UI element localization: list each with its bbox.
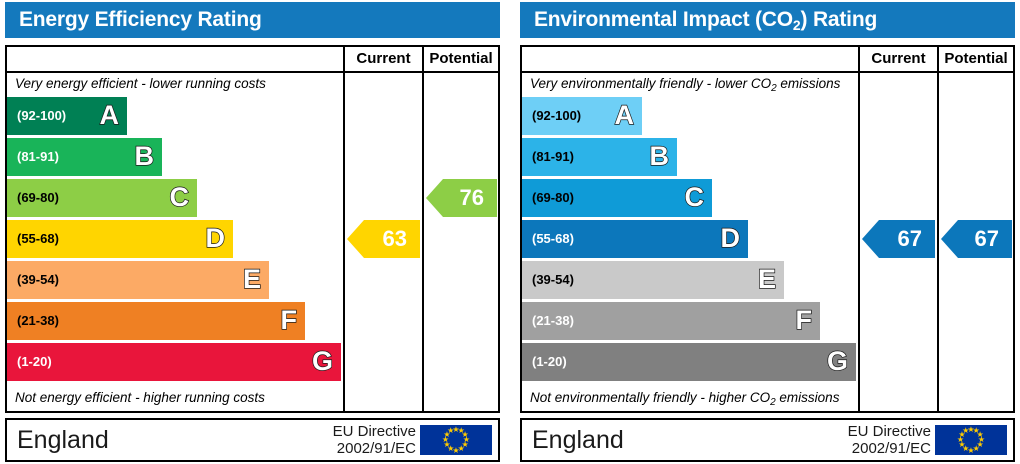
- energy-efficiency-table: Current Potential Very energy efficient …: [5, 45, 500, 413]
- band-letter-a: A: [615, 97, 635, 135]
- band-range-f: (21-38): [17, 302, 59, 340]
- energy-efficiency-title: Energy Efficiency Rating: [5, 2, 500, 38]
- eu-flag-icon: ★★★★★★★★★★★★: [935, 425, 1007, 455]
- environmental-top-note-subscript: 2: [771, 83, 777, 94]
- band-f: (21-38)F: [7, 302, 305, 340]
- band-range-a: (92-100): [532, 97, 581, 135]
- band-letter-b: B: [135, 138, 155, 176]
- environmental-bottom-note-text: Not environmentally friendly - higher CO: [530, 390, 770, 405]
- band-range-c: (69-80): [532, 179, 574, 217]
- environmental-country-label: England: [532, 425, 624, 455]
- environmental-current-rating-arrow: 67: [862, 220, 935, 258]
- band-letter-a: A: [100, 97, 120, 135]
- environmental-bottom-note-suffix: emissions: [776, 390, 840, 405]
- band-letter-d: D: [206, 220, 226, 258]
- environmental-top-note: Very environmentally friendly - lower CO…: [530, 73, 860, 95]
- energy-footer: England EU Directive 2002/91/EC ★★★★★★★★…: [5, 418, 500, 462]
- band-e: (39-54)E: [7, 261, 269, 299]
- environmental-impact-title-text: Environmental Impact (CO: [534, 8, 793, 31]
- eu-flag-star: ★: [447, 427, 455, 435]
- band-range-b: (81-91): [17, 138, 59, 176]
- environmental-eu-directive-label: EU Directive 2002/91/EC: [848, 423, 931, 457]
- band-range-d: (55-68): [532, 220, 574, 258]
- band-letter-g: G: [312, 343, 333, 381]
- band-range-e: (39-54): [532, 261, 574, 299]
- environmental-top-note-suffix: emissions: [777, 76, 841, 91]
- band-range-a: (92-100): [17, 97, 66, 135]
- band-range-b: (81-91): [532, 138, 574, 176]
- epc-certificate-page: Energy Efficiency Rating Current Potenti…: [0, 0, 1020, 464]
- band-letter-e: E: [758, 261, 776, 299]
- band-c: (69-80)C: [7, 179, 197, 217]
- band-range-g: (1-20): [532, 343, 567, 381]
- environmental-potential-column-header: Potential: [939, 47, 1013, 71]
- band-letter-d: D: [721, 220, 741, 258]
- band-letter-c: C: [170, 179, 190, 217]
- band-letter-f: F: [796, 302, 813, 340]
- band-range-e: (39-54): [17, 261, 59, 299]
- environmental-column-divider-1: [858, 47, 860, 411]
- energy-potential-rating-arrow: 76: [426, 179, 497, 217]
- environmental-impact-title: Environmental Impact (CO2) Rating: [520, 2, 1015, 38]
- band-range-d: (55-68): [17, 220, 59, 258]
- energy-column-divider-2: [422, 47, 424, 411]
- band-g: (1-20)G: [7, 343, 341, 381]
- co2-subscript: 2: [793, 17, 801, 33]
- energy-current-rating-arrow: 63: [347, 220, 420, 258]
- band-d: (55-68)D: [522, 220, 748, 258]
- band-a: (92-100)A: [7, 97, 127, 135]
- environmental-directive-line-2: 2002/91/EC: [848, 440, 931, 457]
- band-letter-b: B: [650, 138, 670, 176]
- band-letter-g: G: [827, 343, 848, 381]
- eu-flag-star: ★: [962, 427, 970, 435]
- energy-band-list: (92-100)A(81-91)B(69-80)C(55-68)D(39-54)…: [7, 97, 343, 387]
- environmental-bottom-note-subscript: 2: [770, 397, 776, 408]
- band-e: (39-54)E: [522, 261, 784, 299]
- environmental-footer: England EU Directive 2002/91/EC ★★★★★★★★…: [520, 418, 1015, 462]
- band-letter-f: F: [281, 302, 298, 340]
- energy-directive-line-1: EU Directive: [333, 423, 416, 440]
- energy-column-divider-1: [343, 47, 345, 411]
- environmental-potential-rating-arrow: 67: [941, 220, 1012, 258]
- energy-potential-column-header: Potential: [424, 47, 498, 71]
- energy-bottom-note: Not energy efficient - higher running co…: [15, 387, 345, 409]
- band-range-f: (21-38): [532, 302, 574, 340]
- environmental-impact-rating-chart: Environmental Impact (CO2) Rating Curren…: [515, 0, 1020, 464]
- eu-flag-icon: ★★★★★★★★★★★★: [420, 425, 492, 455]
- band-letter-c: C: [685, 179, 705, 217]
- band-g: (1-20)G: [522, 343, 856, 381]
- environmental-bottom-note: Not environmentally friendly - higher CO…: [530, 387, 860, 409]
- environmental-impact-title-suffix: ) Rating: [801, 8, 878, 31]
- energy-efficiency-title-text: Energy Efficiency Rating: [19, 8, 262, 31]
- energy-current-column-header: Current: [345, 47, 422, 71]
- environmental-band-list: (92-100)A(81-91)B(69-80)C(55-68)D(39-54)…: [522, 97, 858, 387]
- band-letter-e: E: [243, 261, 261, 299]
- environmental-top-note-text: Very environmentally friendly - lower CO: [530, 76, 771, 91]
- band-a: (92-100)A: [522, 97, 642, 135]
- environmental-impact-table: Current Potential Very environmentally f…: [520, 45, 1015, 413]
- environmental-column-divider-2: [937, 47, 939, 411]
- environmental-current-column-header: Current: [860, 47, 937, 71]
- energy-efficiency-rating-chart: Energy Efficiency Rating Current Potenti…: [0, 0, 505, 464]
- band-range-g: (1-20): [17, 343, 52, 381]
- energy-directive-line-2: 2002/91/EC: [333, 440, 416, 457]
- band-c: (69-80)C: [522, 179, 712, 217]
- band-d: (55-68)D: [7, 220, 233, 258]
- energy-eu-directive-label: EU Directive 2002/91/EC: [333, 423, 416, 457]
- band-b: (81-91)B: [522, 138, 677, 176]
- band-f: (21-38)F: [522, 302, 820, 340]
- environmental-directive-line-1: EU Directive: [848, 423, 931, 440]
- energy-top-note: Very energy efficient - lower running co…: [15, 73, 345, 95]
- band-b: (81-91)B: [7, 138, 162, 176]
- band-range-c: (69-80): [17, 179, 59, 217]
- energy-country-label: England: [17, 425, 109, 455]
